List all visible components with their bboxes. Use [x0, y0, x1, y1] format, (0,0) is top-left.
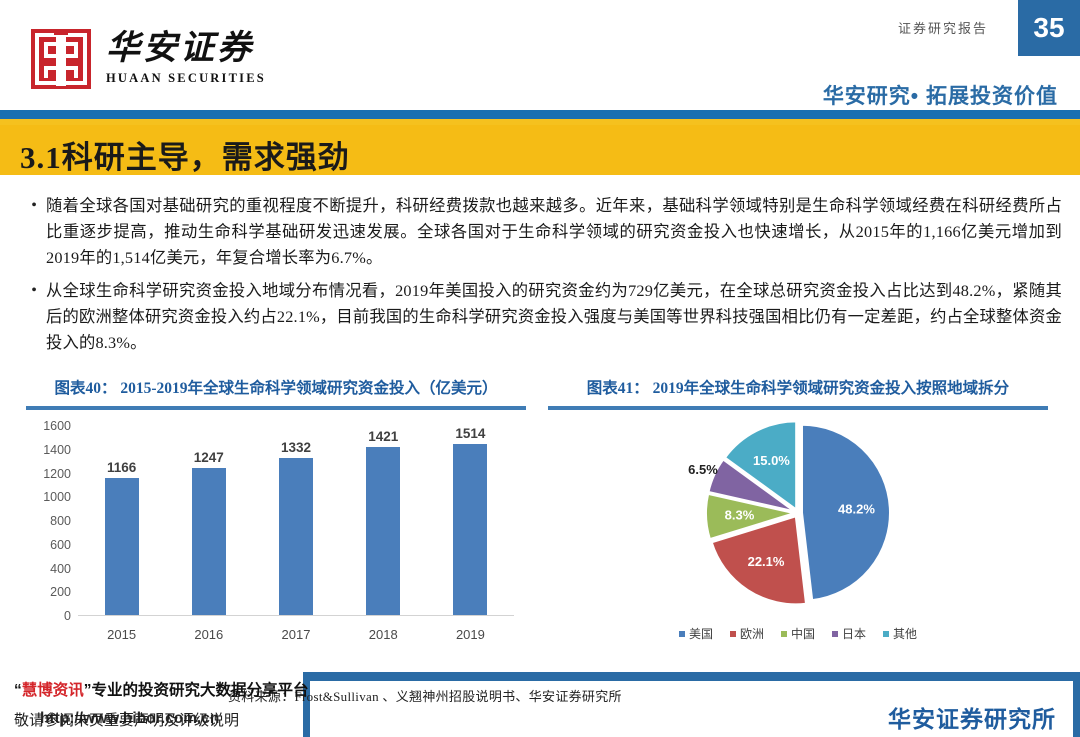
bullet-dot-icon: •: [22, 278, 46, 356]
legend-item[interactable]: 美国: [679, 625, 713, 642]
bullet-item: • 随着全球各国对基础研究的重视程度不断提升，科研经费拨款也越来越多。近年来，基…: [22, 193, 1062, 271]
x-axis-ticks: 20152016201720182019: [78, 627, 514, 642]
legend-label: 美国: [689, 625, 713, 642]
bar: [453, 444, 487, 616]
section-title: 3.1科研主导，需求强劲: [20, 132, 350, 177]
bar-value-label: 1166: [107, 460, 136, 475]
page-number-badge: 35: [1018, 0, 1080, 56]
bullet-dot-icon: •: [22, 193, 46, 271]
pie-graphic: 48.2%22.1%8.3%6.5%15.0%: [673, 420, 923, 610]
bar-value-label: 1514: [455, 426, 485, 441]
watermark-url[interactable]: http://www.hibor.com.cn: [40, 710, 219, 728]
legend-item[interactable]: 中国: [781, 625, 815, 642]
bar-series: 11661247133214211514: [78, 426, 514, 616]
pie-slice-label: 8.3%: [725, 507, 755, 522]
bar-cell: 1166: [78, 426, 165, 616]
bar-value-label: 1247: [194, 450, 224, 465]
bar-value-label: 1421: [368, 429, 398, 444]
page-header: 华安证券 HUAAN SECURITIES 证券研究报告 35 华安研究• 拓展…: [0, 0, 1080, 110]
watermark-tagline: 专业的投资研究大数据分享平台: [92, 682, 309, 699]
logo-english-name: HUAAN SECURITIES: [106, 71, 266, 86]
y-tick-label: 1200: [43, 467, 71, 481]
legend-swatch-icon: [730, 631, 736, 637]
legend-swatch-icon: [883, 631, 889, 637]
bullet-paragraph: 随着全球各国对基础研究的重视程度不断提升，科研经费拨款也越来越多。近年来，基础科…: [46, 193, 1062, 271]
report-kind-label: 证券研究报告: [898, 18, 988, 37]
figure-41-title: 图表41： 2019年全球生命科学领域研究资金投入按照地域拆分: [548, 378, 1048, 400]
y-tick-label: 1600: [43, 419, 71, 433]
watermark-brand-line: “慧博资讯”专业的投资研究大数据分享平台: [14, 678, 309, 700]
legend-item[interactable]: 日本: [832, 625, 866, 642]
bar: [105, 478, 139, 616]
watermark-quote-close: ”: [84, 682, 92, 699]
bar-cell: 1514: [427, 426, 514, 616]
x-tick-label: 2017: [252, 627, 339, 642]
section-title-band: 3.1科研主导，需求强劲: [0, 125, 1080, 175]
legend-label: 欧洲: [740, 625, 764, 642]
legend-swatch-icon: [781, 631, 787, 637]
y-tick-label: 1400: [43, 443, 71, 457]
bar-value-label: 1332: [281, 440, 311, 455]
pie-chart: 48.2%22.1%8.3%6.5%15.0% 美国欧洲中国日本其他: [548, 418, 1048, 648]
bullet-item: • 从全球生命科学研究资金投入地域分布情况看，2019年美国投入的研究资金约为7…: [22, 278, 1062, 356]
figure-40-title: 图表40： 2015-2019年全球生命科学领域研究资金投入（亿美元）: [26, 378, 526, 400]
legend-swatch-icon: [679, 631, 685, 637]
slide-page: 华安证券 HUAAN SECURITIES 证券研究报告 35 华安研究• 拓展…: [0, 0, 1080, 737]
legend-item[interactable]: 其他: [883, 625, 917, 642]
y-tick-label: 400: [50, 562, 71, 576]
x-tick-label: 2016: [165, 627, 252, 642]
y-tick-label: 600: [50, 538, 71, 552]
watermark-quote-open: “: [14, 682, 22, 699]
legend-label: 日本: [842, 625, 866, 642]
logo-chinese-name: 华安证券: [106, 32, 266, 66]
y-tick-label: 0: [64, 609, 71, 623]
bar: [279, 458, 313, 616]
x-tick-label: 2018: [340, 627, 427, 642]
bar-cell: 1332: [252, 426, 339, 616]
bar-cell: 1421: [340, 426, 427, 616]
header-blue-rule: [0, 110, 1080, 119]
pie-slice-label: 22.1%: [748, 554, 785, 569]
bar: [366, 447, 400, 616]
bar: [192, 468, 226, 616]
figure-40-rule: [26, 406, 526, 410]
legend-swatch-icon: [832, 631, 838, 637]
figure-41-rule: [548, 406, 1048, 410]
company-slogan: 华安研究• 拓展投资价值: [823, 80, 1058, 110]
legend-label: 中国: [791, 625, 815, 642]
pie-slice-label: 15.0%: [753, 453, 790, 468]
bar-plot-area: 02004006008001000120014001600 1166124713…: [78, 426, 514, 616]
pie-legend: 美国欧洲中国日本其他: [548, 625, 1048, 642]
y-tick-label: 1000: [43, 490, 71, 504]
legend-item[interactable]: 欧洲: [730, 625, 764, 642]
y-tick-label: 800: [50, 514, 71, 528]
watermark-brand: 慧博资讯: [22, 682, 84, 699]
pie-slice-label: 6.5%: [688, 462, 718, 477]
bar-cell: 1247: [165, 426, 252, 616]
legend-label: 其他: [893, 625, 917, 642]
x-tick-label: 2015: [78, 627, 165, 642]
x-axis-line: [78, 615, 514, 616]
x-tick-label: 2019: [427, 627, 514, 642]
bullet-paragraph: 从全球生命科学研究资金投入地域分布情况看，2019年美国投入的研究资金约为729…: [46, 278, 1062, 356]
huaan-logo-icon: [30, 28, 92, 90]
footer-institute-name: 华安证券研究所: [888, 700, 1056, 734]
company-logo: 华安证券 HUAAN SECURITIES: [30, 28, 266, 90]
pie-slice-label: 48.2%: [838, 502, 875, 517]
figure-41: 图表41： 2019年全球生命科学领域研究资金投入按照地域拆分 48.2%22.…: [548, 378, 1048, 648]
figure-40: 图表40： 2015-2019年全球生命科学领域研究资金投入（亿美元） 0200…: [26, 378, 526, 650]
y-tick-label: 200: [50, 585, 71, 599]
body-bullets: • 随着全球各国对基础研究的重视程度不断提升，科研经费拨款也越来越多。近年来，基…: [22, 193, 1062, 363]
bar-chart: 02004006008001000120014001600 1166124713…: [26, 420, 526, 650]
